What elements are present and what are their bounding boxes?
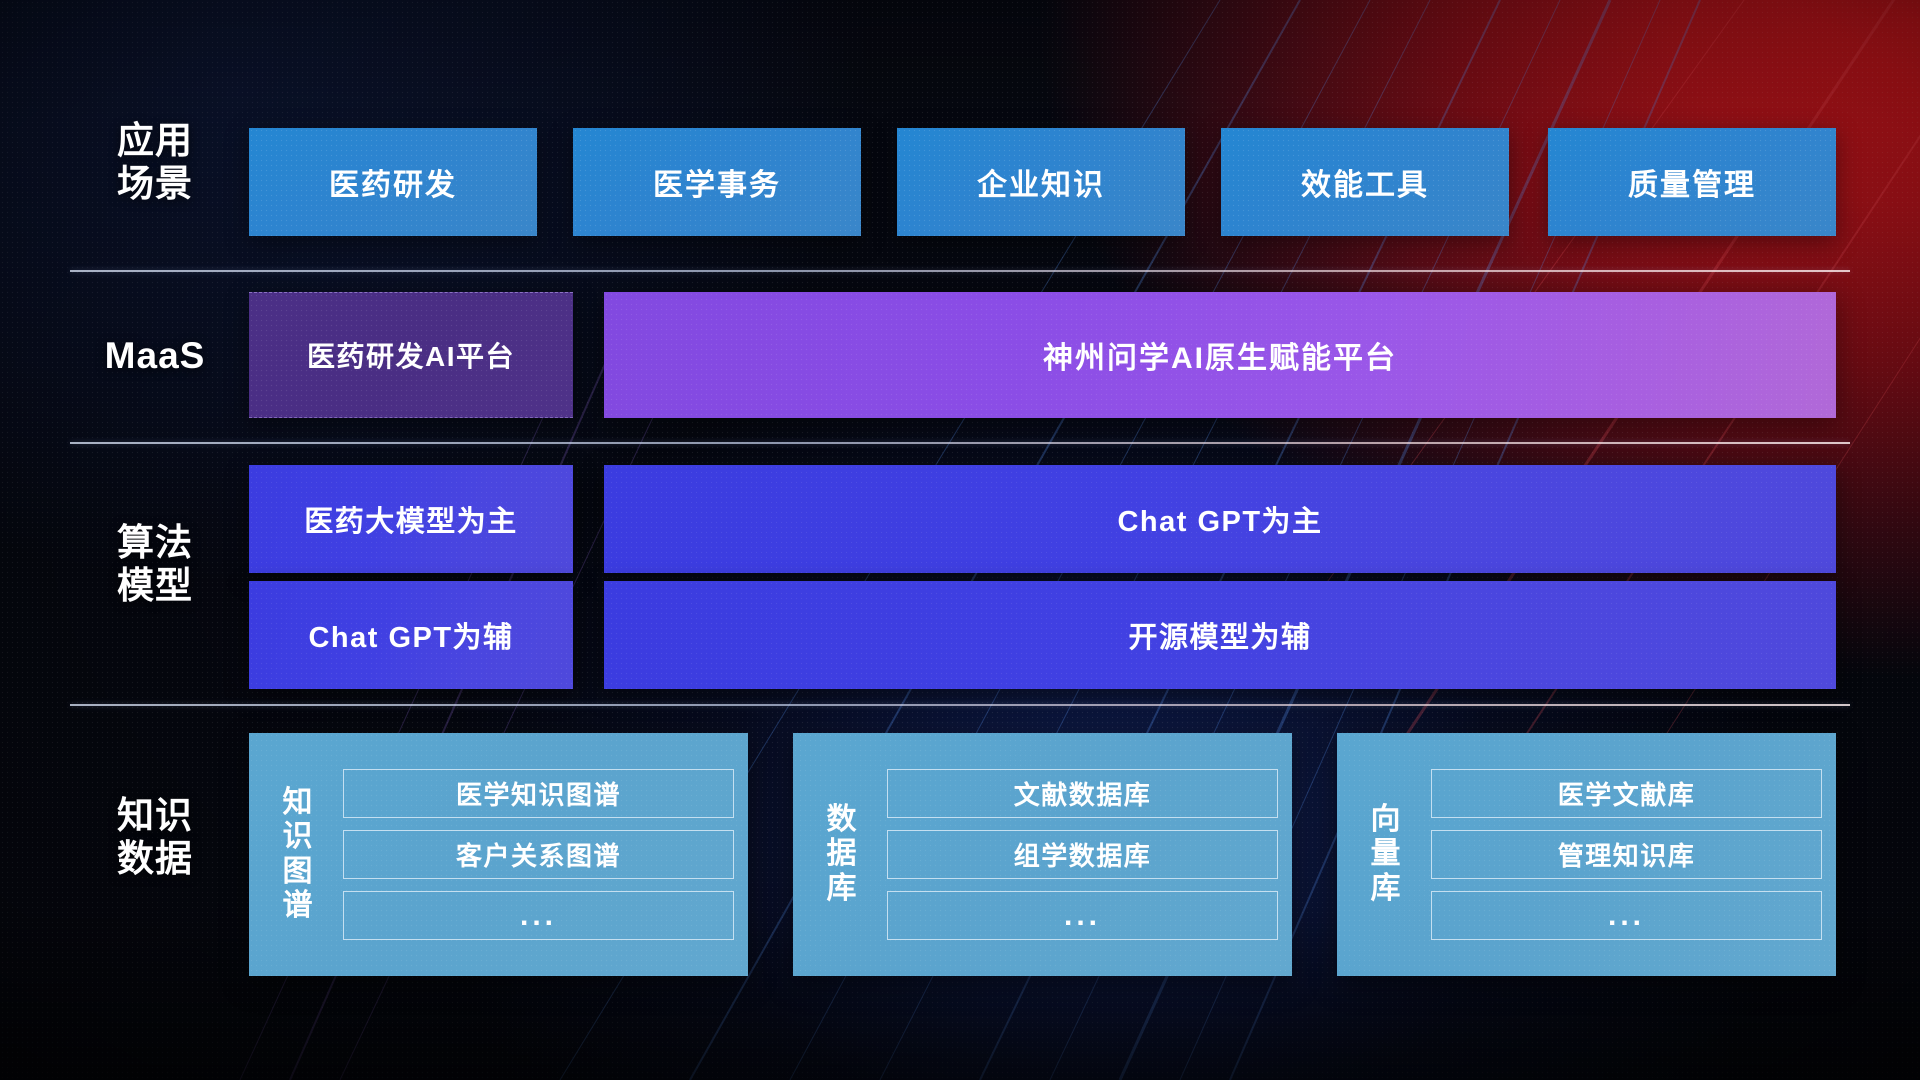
knowledge-card-item-list: 医学知识图谱 客户关系图谱 ... — [343, 769, 734, 940]
knowledge-card-vertical-label: 向量库 — [1355, 803, 1417, 906]
knowledge-card-database[interactable]: 数据库 文献数据库 组学数据库 ... — [793, 733, 1292, 976]
app-box-medicine-rd[interactable]: 医药研发 — [249, 128, 537, 236]
knowledge-card-item-list: 医学文献库 管理知识库 ... — [1431, 769, 1822, 940]
row-label-knowledge-data: 知识 数据 — [70, 795, 240, 881]
knowledge-item-literature-database[interactable]: 文献数据库 — [887, 769, 1278, 818]
maas-box-medicine-rd-ai-platform[interactable]: 医药研发AI平台 — [249, 292, 573, 418]
knowledge-item-more[interactable]: ... — [887, 891, 1278, 940]
algo-box-chatgpt-primary[interactable]: Chat GPT为主 — [604, 465, 1836, 573]
row-label-line: 场景 — [70, 163, 240, 206]
knowledge-item-medical-knowledge-graph[interactable]: 医学知识图谱 — [343, 769, 734, 818]
architecture-diagram: 应用 场景 医药研发 医学事务 企业知识 效能工具 质量管理 MaaS 医药研发… — [0, 0, 1920, 1080]
row-label-line: 应用 — [70, 120, 240, 163]
row-label-line: 数据 — [70, 838, 240, 881]
knowledge-card-vector-database[interactable]: 向量库 医学文献库 管理知识库 ... — [1337, 733, 1836, 976]
knowledge-item-omics-database[interactable]: 组学数据库 — [887, 830, 1278, 879]
algo-box-chatgpt-secondary[interactable]: Chat GPT为辅 — [249, 581, 573, 689]
divider-1 — [70, 270, 1850, 272]
divider-3 — [70, 704, 1850, 706]
row-label-line: MaaS — [70, 335, 240, 378]
row-label-line: 知识 — [70, 795, 240, 838]
knowledge-item-more[interactable]: ... — [1431, 891, 1822, 940]
divider-2 — [70, 442, 1850, 444]
app-box-efficiency-tools[interactable]: 效能工具 — [1221, 128, 1509, 236]
knowledge-item-management-knowledge-base[interactable]: 管理知识库 — [1431, 830, 1822, 879]
knowledge-item-medical-literature-library[interactable]: 医学文献库 — [1431, 769, 1822, 818]
algo-box-opensource-model-secondary[interactable]: 开源模型为辅 — [604, 581, 1836, 689]
knowledge-card-vertical-label: 知识图谱 — [267, 786, 329, 923]
knowledge-card-vertical-label: 数据库 — [811, 803, 873, 906]
app-box-medical-affairs[interactable]: 医学事务 — [573, 128, 861, 236]
row-label-line: 算法 — [70, 522, 240, 565]
row-label-maas: MaaS — [70, 335, 240, 378]
knowledge-card-item-list: 文献数据库 组学数据库 ... — [887, 769, 1278, 940]
row-label-line: 模型 — [70, 565, 240, 608]
app-box-enterprise-knowledge[interactable]: 企业知识 — [897, 128, 1185, 236]
row-label-application-scenarios: 应用 场景 — [70, 120, 240, 206]
maas-box-shenzhou-wenxue-platform[interactable]: 神州问学AI原生赋能平台 — [604, 292, 1836, 418]
knowledge-item-customer-relation-graph[interactable]: 客户关系图谱 — [343, 830, 734, 879]
knowledge-item-more[interactable]: ... — [343, 891, 734, 940]
row-label-algorithm-models: 算法 模型 — [70, 522, 240, 608]
algo-box-medicine-large-model-primary[interactable]: 医药大模型为主 — [249, 465, 573, 573]
knowledge-card-knowledge-graph[interactable]: 知识图谱 医学知识图谱 客户关系图谱 ... — [249, 733, 748, 976]
app-box-quality-management[interactable]: 质量管理 — [1548, 128, 1836, 236]
